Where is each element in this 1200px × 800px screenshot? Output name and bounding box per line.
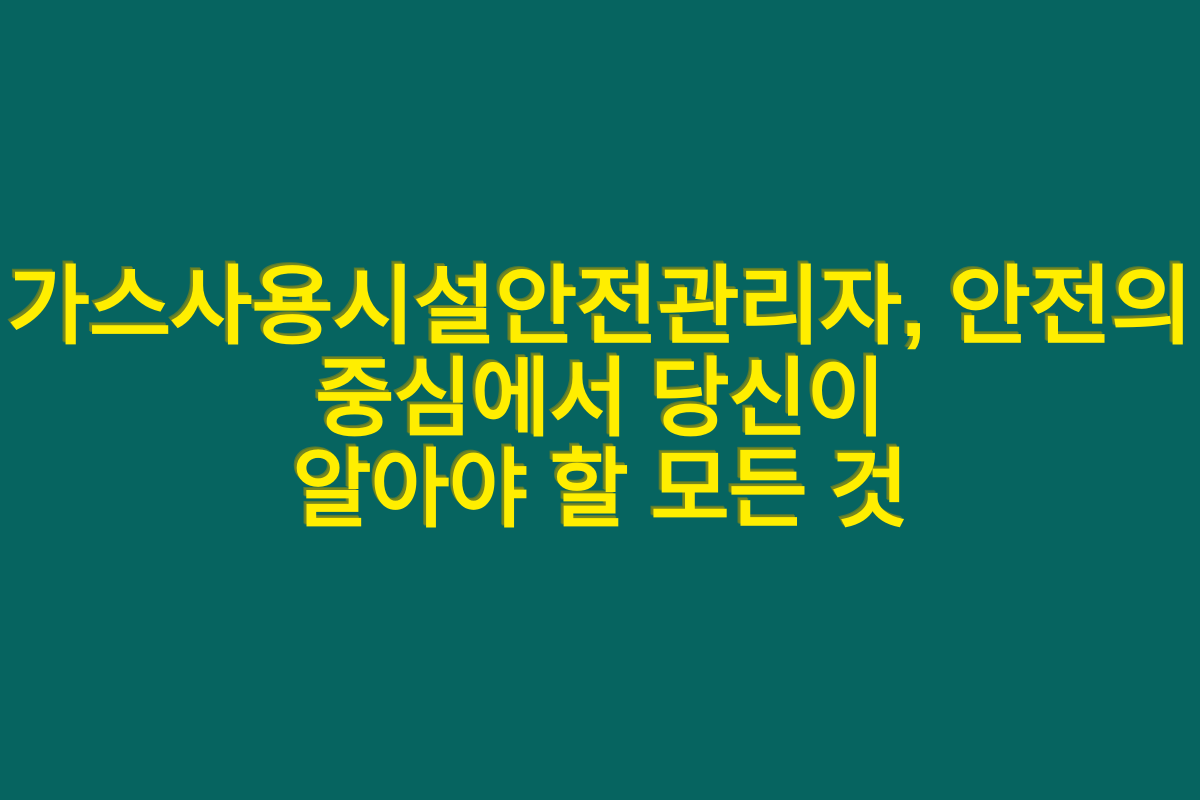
headline-line-3: 알아야 할 모든 것 (20, 449, 1180, 532)
headline-block: 가스사용시설안전관리자, 안전의 중심에서 당신이 알아야 할 모든 것 (20, 266, 1180, 532)
poster-background: 가스사용시설안전관리자, 안전의 중심에서 당신이 알아야 할 모든 것 (0, 0, 1200, 800)
headline-line-2: 중심에서 당신이 (20, 358, 1180, 441)
headline-line-1: 가스사용시설안전관리자, 안전의 (0, 266, 1200, 349)
